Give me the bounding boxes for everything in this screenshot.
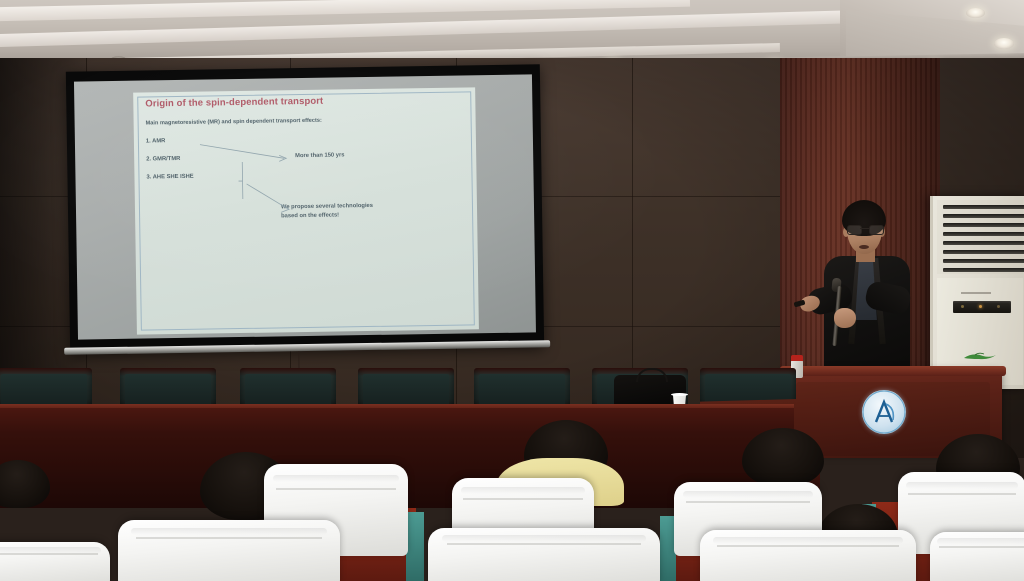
screen-surface: Origin of the spin-dependent transport M… xyxy=(74,74,536,339)
slide-note-years: More than 150 yrs xyxy=(295,152,344,159)
eyeglasses-icon xyxy=(847,225,882,234)
ac-louver-grill xyxy=(937,200,1023,274)
audience-seat-cover-front xyxy=(0,542,110,581)
speaker-figure xyxy=(806,200,926,390)
audience-head xyxy=(0,460,50,508)
audience-seat-cover-front xyxy=(700,530,916,581)
audience-area xyxy=(0,420,1024,581)
speaker-mouth xyxy=(859,245,869,249)
seat-frame xyxy=(406,512,424,581)
air-conditioner-unit xyxy=(930,196,1024,389)
audience-seat-cover-front xyxy=(428,528,660,581)
audience-head xyxy=(742,428,824,486)
audience-seat-cover-front xyxy=(118,520,340,581)
conference-hall-photo: Origin of the spin-dependent transport M… xyxy=(0,0,1024,581)
projection-screen: Origin of the spin-dependent transport M… xyxy=(66,64,544,353)
slide-note-proposal: We propose several technologies based on… xyxy=(281,202,373,221)
bottle-cap xyxy=(791,355,803,361)
downlight-icon xyxy=(994,38,1014,49)
speaker-hand-holding-mic xyxy=(834,308,856,328)
downlight-icon xyxy=(966,8,985,18)
paper-cup-rim xyxy=(671,393,688,396)
ac-control-panel[interactable] xyxy=(953,301,1011,313)
audience-seat-cover-front xyxy=(930,532,1024,581)
lectern-top xyxy=(780,366,1006,376)
ac-brand-mark xyxy=(961,292,991,294)
leaf-decal-icon xyxy=(963,351,997,360)
slide-note-proposal-line2: based on the effects! xyxy=(281,211,373,221)
projected-slide: Origin of the spin-dependent transport M… xyxy=(133,87,479,334)
